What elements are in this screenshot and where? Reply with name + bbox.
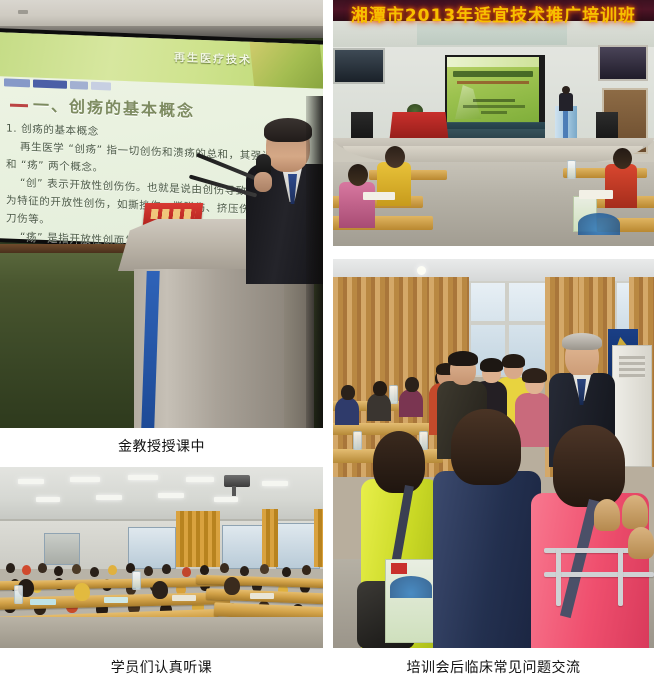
wall-monitor-left xyxy=(333,48,385,84)
photo-audience-image xyxy=(0,467,323,648)
water-bottle xyxy=(132,571,141,590)
paper xyxy=(579,190,613,199)
ceiling-light xyxy=(70,477,100,482)
slide-brand-text: 再生医疗技术 xyxy=(174,49,252,68)
classroom-floor xyxy=(0,617,323,648)
audience-head xyxy=(200,565,209,575)
audience-head xyxy=(74,583,90,601)
hall-slide-subtitle-line xyxy=(457,81,529,84)
audience-head xyxy=(182,567,191,577)
attendee-head xyxy=(385,146,405,168)
hall-slide xyxy=(447,57,539,123)
audience-head xyxy=(72,564,81,574)
person-body xyxy=(433,471,541,648)
caption-lecture: 金教授授课中 xyxy=(0,436,323,456)
photo-collage: 再生医疗技术 一、创疡的基本概念 1. 创疡的基本概念 再生医学 “创疡” 指一… xyxy=(0,0,654,690)
speaker-hand xyxy=(254,172,272,192)
person-body xyxy=(335,397,359,425)
hall-slide-text-1 xyxy=(473,99,515,102)
window-curtain xyxy=(176,511,220,567)
audience-head xyxy=(224,577,240,595)
audience-head xyxy=(260,564,269,574)
person-head xyxy=(405,377,419,392)
audience-head xyxy=(38,563,47,573)
person-hair xyxy=(448,351,478,366)
water-bottle xyxy=(567,160,576,179)
attendee-head xyxy=(348,164,368,186)
person-head xyxy=(341,385,355,400)
audience-head xyxy=(108,565,117,575)
hall-slide-text-3 xyxy=(481,111,507,114)
slide-title-bar xyxy=(10,104,28,108)
audience-head xyxy=(152,581,168,599)
water-bottle xyxy=(14,585,23,604)
photo-lecture[interactable]: 再生医疗技术 一、创疡的基本概念 1. 创疡的基本概念 再生医学 “创疡” 指一… xyxy=(0,0,323,428)
bag-logo xyxy=(391,563,407,574)
hall-slide-title-line xyxy=(453,71,533,77)
seated-person xyxy=(335,385,359,425)
hall-speaker-body xyxy=(559,93,573,111)
seated-person xyxy=(399,377,423,417)
ceiling-light xyxy=(158,493,184,498)
person-head xyxy=(373,381,387,396)
attendee-body xyxy=(605,164,637,208)
paper xyxy=(363,192,395,200)
ceiling-light xyxy=(186,477,214,482)
audience-head xyxy=(54,566,63,576)
caption-discussion: 培训会后临床常见问题交流 xyxy=(333,657,654,677)
person-body xyxy=(367,393,391,421)
chair xyxy=(622,495,648,529)
person-body xyxy=(399,389,423,417)
paper xyxy=(172,595,196,601)
person-hair xyxy=(373,431,425,493)
hall-slide-text-2 xyxy=(463,105,525,108)
audience-head xyxy=(144,566,153,576)
window-curtain xyxy=(314,509,323,567)
photo-audience[interactable] xyxy=(0,467,323,648)
ceiling-light xyxy=(262,481,288,486)
door-panel xyxy=(44,533,80,565)
chair xyxy=(594,499,620,531)
led-banner-text: 湘潭市2013年适宜技术推广培训班 xyxy=(333,1,654,26)
ceiling-light xyxy=(96,495,122,500)
handbag xyxy=(573,196,597,232)
audience-head xyxy=(302,565,311,575)
rail-post xyxy=(556,548,561,606)
person-hair xyxy=(562,333,602,350)
audience-head xyxy=(6,563,15,573)
foreground-person-navy xyxy=(433,409,541,648)
wall-monitor-right xyxy=(598,45,648,81)
ceiling-light xyxy=(128,475,158,480)
attendee xyxy=(605,148,637,208)
ceiling-light xyxy=(18,479,44,484)
paper xyxy=(250,593,274,599)
paper xyxy=(30,599,56,605)
photo-hall[interactable]: 湘潭市2013年适宜技术推广培训班 xyxy=(333,0,654,246)
person-hair xyxy=(451,409,521,485)
attendee-head xyxy=(613,148,632,169)
audience-head xyxy=(22,565,31,575)
ceiling-panel xyxy=(417,23,567,45)
slide-tabs xyxy=(4,78,111,90)
audience-head xyxy=(240,566,249,576)
photo-discussion[interactable] xyxy=(333,259,654,648)
photo-hall-image: 湘潭市2013年适宜技术推广培训班 xyxy=(333,0,654,246)
right-shadow xyxy=(306,96,323,428)
window-transom xyxy=(469,321,545,325)
hall-slide-band xyxy=(447,57,539,67)
chair xyxy=(628,527,654,559)
hall-projection-screen xyxy=(445,55,545,129)
ceiling-projector xyxy=(224,475,250,487)
person-hair xyxy=(553,425,625,507)
audience-head xyxy=(162,564,171,574)
ceiling-light xyxy=(36,497,60,502)
person-hair xyxy=(522,368,547,383)
paper xyxy=(104,597,128,603)
caption-audience: 学员们认真听课 xyxy=(0,657,323,677)
audience-head xyxy=(220,563,229,573)
seated-person xyxy=(367,381,391,421)
attendee-body xyxy=(339,182,375,228)
audience-head xyxy=(282,567,291,577)
photo-lecture-image: 再生医疗技术 一、创疡的基本概念 1. 创疡的基本概念 再生医学 “创疡” 指一… xyxy=(0,0,323,428)
ceiling-light xyxy=(214,497,238,502)
slide-title-text: 一、创疡的基本概念 xyxy=(33,95,195,120)
rail-post xyxy=(618,548,623,606)
audience-head xyxy=(90,567,99,577)
window-curtain xyxy=(262,509,278,567)
hall-speaker-head xyxy=(562,86,570,94)
hall-speaker xyxy=(559,86,573,110)
speaker-hair xyxy=(264,118,312,142)
hall-slide-figure xyxy=(455,85,481,119)
photo-discussion-image xyxy=(333,259,654,648)
slide-title: 一、创疡的基本概念 xyxy=(10,91,195,122)
